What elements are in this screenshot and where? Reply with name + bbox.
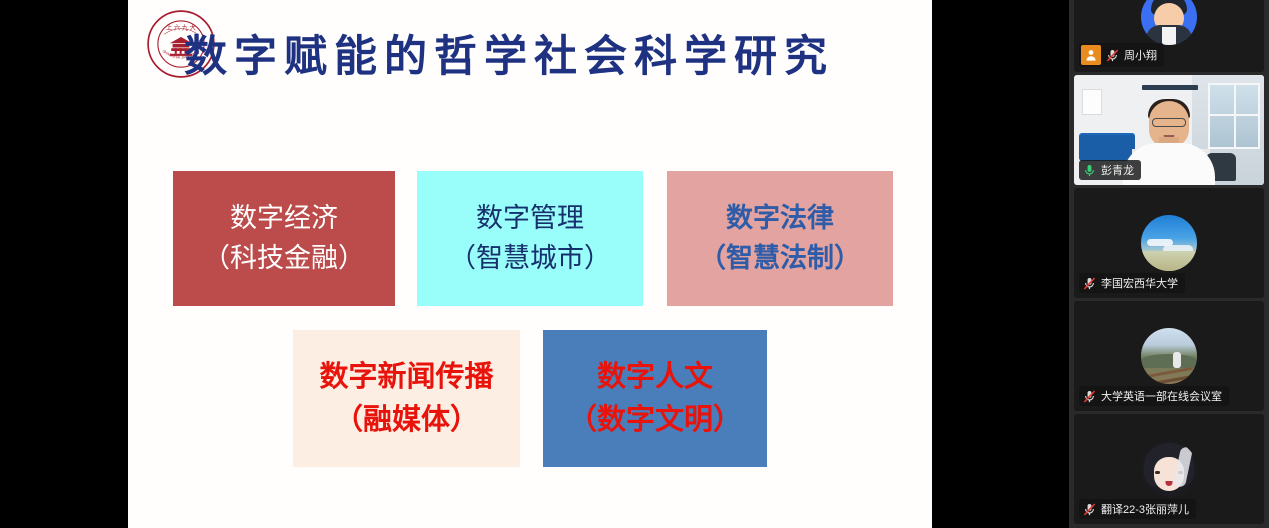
topic-box-economy[interactable]: 数字经济 （科技金融） <box>173 171 395 306</box>
topic-box-humanities-line1: 数字人文 <box>597 356 713 398</box>
shared-screen-stage[interactable]: 上 六 九 大 SHANGHAI JIAO TONG UNIVERSITY <box>0 0 1069 528</box>
topic-box-digital-humanities[interactable]: 数字人文 （数字文明） <box>543 330 767 467</box>
participant-tile-liguohong[interactable]: 李国宏西华大学 <box>1074 188 1264 298</box>
avatar <box>1141 328 1197 384</box>
participant-tile-pengqinglong[interactable]: 彭青龙 <box>1074 75 1264 185</box>
screen-share-meeting-window: 上 六 九 大 SHANGHAI JIAO TONG UNIVERSITY <box>0 0 1269 528</box>
topic-box-law-line1: 数字法律 <box>726 199 834 238</box>
topic-box-economy-line2: （科技金融） <box>203 239 365 278</box>
participant-tile-zhouxiaoxiang[interactable]: 周小翔 <box>1074 0 1264 72</box>
avatar <box>1141 0 1197 45</box>
participant-name: 彭青龙 <box>1101 162 1134 178</box>
presentation-slide[interactable]: 上 六 九 大 SHANGHAI JIAO TONG UNIVERSITY <box>128 0 932 528</box>
participant-name: 周小翔 <box>1124 47 1157 63</box>
mic-muted-icon <box>1082 502 1097 517</box>
participant-video-strip[interactable]: 周小翔 <box>1069 0 1269 528</box>
topic-box-management-line2: （智慧城市） <box>449 239 611 278</box>
topic-box-news-line1: 数字新闻传播 <box>319 356 493 398</box>
mic-muted-icon <box>1105 48 1120 63</box>
participant-tile-english-dept-room[interactable]: 大学英语一部在线会议室 <box>1074 301 1264 411</box>
host-badge-icon <box>1081 45 1101 65</box>
topic-box-management[interactable]: 数字管理 （智慧城市） <box>417 171 643 306</box>
topic-box-law[interactable]: 数字法律 （智慧法制） <box>667 171 893 306</box>
participant-name: 李国宏西华大学 <box>1101 275 1178 291</box>
svg-text:上 六 九 大: 上 六 九 大 <box>166 22 197 31</box>
participant-namebar: 彭青龙 <box>1079 160 1141 180</box>
participant-name: 大学英语一部在线会议室 <box>1101 388 1222 404</box>
topic-box-economy-line1: 数字经济 <box>230 199 338 238</box>
avatar <box>1141 441 1197 497</box>
topic-box-news-line2: （融媒体） <box>334 399 479 441</box>
mic-muted-icon <box>1082 276 1097 291</box>
mic-muted-icon <box>1082 389 1097 404</box>
topic-box-news-communication[interactable]: 数字新闻传播 （融媒体） <box>293 330 520 467</box>
topic-box-humanities-line2: （数字文明） <box>568 399 742 441</box>
topic-box-law-line2: （智慧法制） <box>699 239 861 278</box>
participant-namebar: 李国宏西华大学 <box>1079 273 1185 293</box>
participant-name: 翻译22-3张丽萍儿 <box>1101 501 1189 517</box>
participant-namebar: 周小翔 <box>1079 43 1164 67</box>
participant-namebar: 翻译22-3张丽萍儿 <box>1079 499 1196 519</box>
slide-title: 数字赋能的哲学社会科学研究 <box>184 36 932 79</box>
participant-tile-zhangliping[interactable]: 翻译22-3张丽萍儿 <box>1074 414 1264 524</box>
avatar <box>1141 215 1197 271</box>
topic-box-management-line1: 数字管理 <box>476 199 584 238</box>
mic-on-icon <box>1082 163 1097 178</box>
participant-namebar: 大学英语一部在线会议室 <box>1079 386 1229 406</box>
